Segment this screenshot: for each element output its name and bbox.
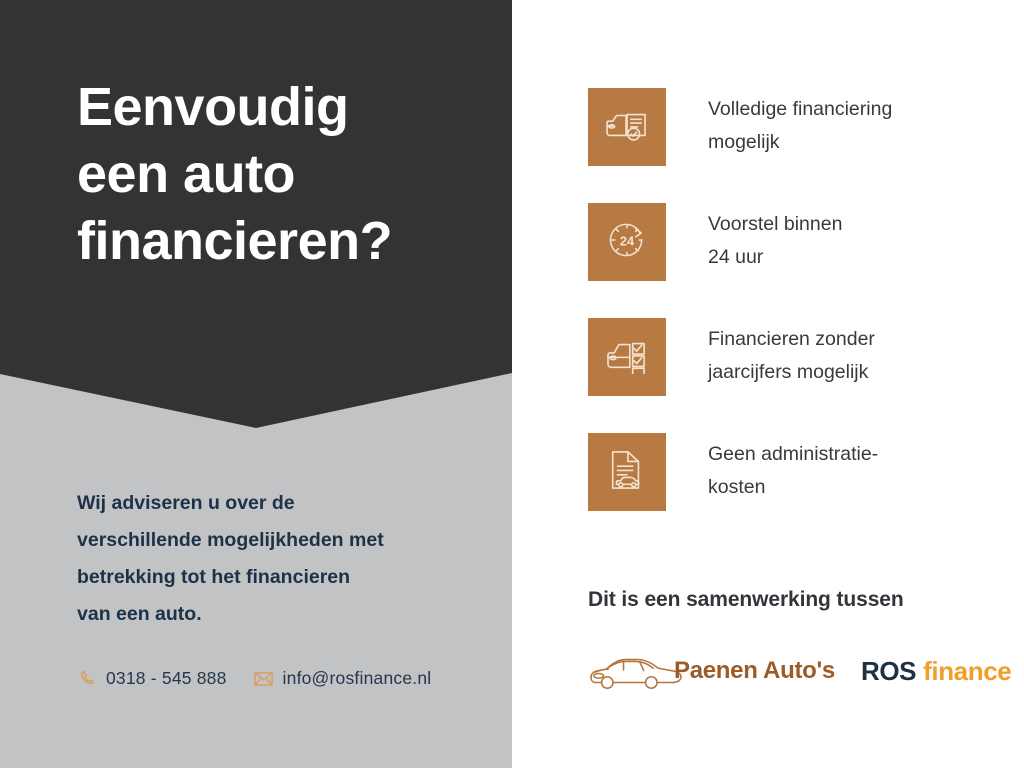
contact-email[interactable]: info@rosfinance.nl bbox=[254, 668, 432, 689]
partnership-block: Dit is een samenwerking tussen bbox=[588, 588, 1008, 693]
clock-24-hour-icon: 24 bbox=[605, 218, 649, 267]
contact-row: 0318 - 545 888 info@rosfinance.nl bbox=[77, 668, 458, 689]
envelope-icon bbox=[254, 669, 273, 688]
headline-line-1: Eenvoudig bbox=[77, 74, 497, 141]
feature-item: Geen administratie- kosten bbox=[588, 433, 892, 515]
body-copy: Wij adviseren u over de verschillende mo… bbox=[77, 485, 477, 633]
logo-paenen-text: Paenen Auto's bbox=[674, 657, 835, 685]
logo-ros-word: ROS bbox=[861, 656, 916, 686]
car-checklist-icon bbox=[604, 336, 650, 379]
feature-icon-tile bbox=[588, 433, 666, 511]
car-outline-icon bbox=[588, 649, 684, 693]
feature-item: 24 Voorstel binnen 24 uur bbox=[588, 203, 892, 285]
contact-phone[interactable]: 0318 - 545 888 bbox=[77, 668, 227, 689]
feature-list: Volledige financiering mogelijk 24 bbox=[588, 88, 892, 548]
body-line-3: betrekking tot het financieren bbox=[77, 559, 477, 596]
page-title: Eenvoudig een auto financieren? bbox=[77, 74, 497, 275]
feature-item: Financieren zonder jaarcijfers mogelijk bbox=[588, 318, 892, 400]
feature-label: Volledige financiering mogelijk bbox=[708, 88, 892, 159]
feature-label: Geen administratie- kosten bbox=[708, 433, 878, 504]
logo-finance-word: finance bbox=[923, 656, 1011, 686]
feature-label: Voorstel binnen 24 uur bbox=[708, 203, 842, 274]
svg-text:24: 24 bbox=[620, 233, 635, 248]
logo-paenen-autos[interactable]: Paenen Auto's bbox=[588, 649, 835, 693]
headline-line-2: een auto bbox=[77, 141, 497, 208]
partnership-title: Dit is een samenwerking tussen bbox=[588, 588, 1008, 612]
phone-number: 0318 - 545 888 bbox=[106, 668, 227, 689]
body-line-1: Wij adviseren u over de bbox=[77, 485, 477, 522]
left-column: Eenvoudig een auto financieren? Wij advi… bbox=[0, 0, 512, 768]
body-line-2: verschillende mogelijkheden met bbox=[77, 522, 477, 559]
logo-ros-finance[interactable]: ROSfinance bbox=[861, 656, 1011, 687]
feature-icon-tile bbox=[588, 88, 666, 166]
right-column: Volledige financiering mogelijk 24 bbox=[512, 0, 1024, 768]
feature-icon-tile: 24 bbox=[588, 203, 666, 281]
email-address: info@rosfinance.nl bbox=[283, 668, 432, 689]
promo-banner: Eenvoudig een auto financieren? Wij advi… bbox=[0, 0, 1024, 768]
feature-label: Financieren zonder jaarcijfers mogelijk bbox=[708, 318, 875, 389]
feature-icon-tile bbox=[588, 318, 666, 396]
document-car-icon bbox=[607, 448, 647, 497]
partner-logos: Paenen Auto's ROSfinance bbox=[588, 649, 1008, 693]
headline-line-3: financieren? bbox=[77, 208, 497, 275]
car-document-check-icon bbox=[604, 106, 650, 149]
feature-item: Volledige financiering mogelijk bbox=[588, 88, 892, 170]
body-line-4: van een auto. bbox=[77, 596, 477, 633]
phone-icon bbox=[77, 669, 96, 688]
